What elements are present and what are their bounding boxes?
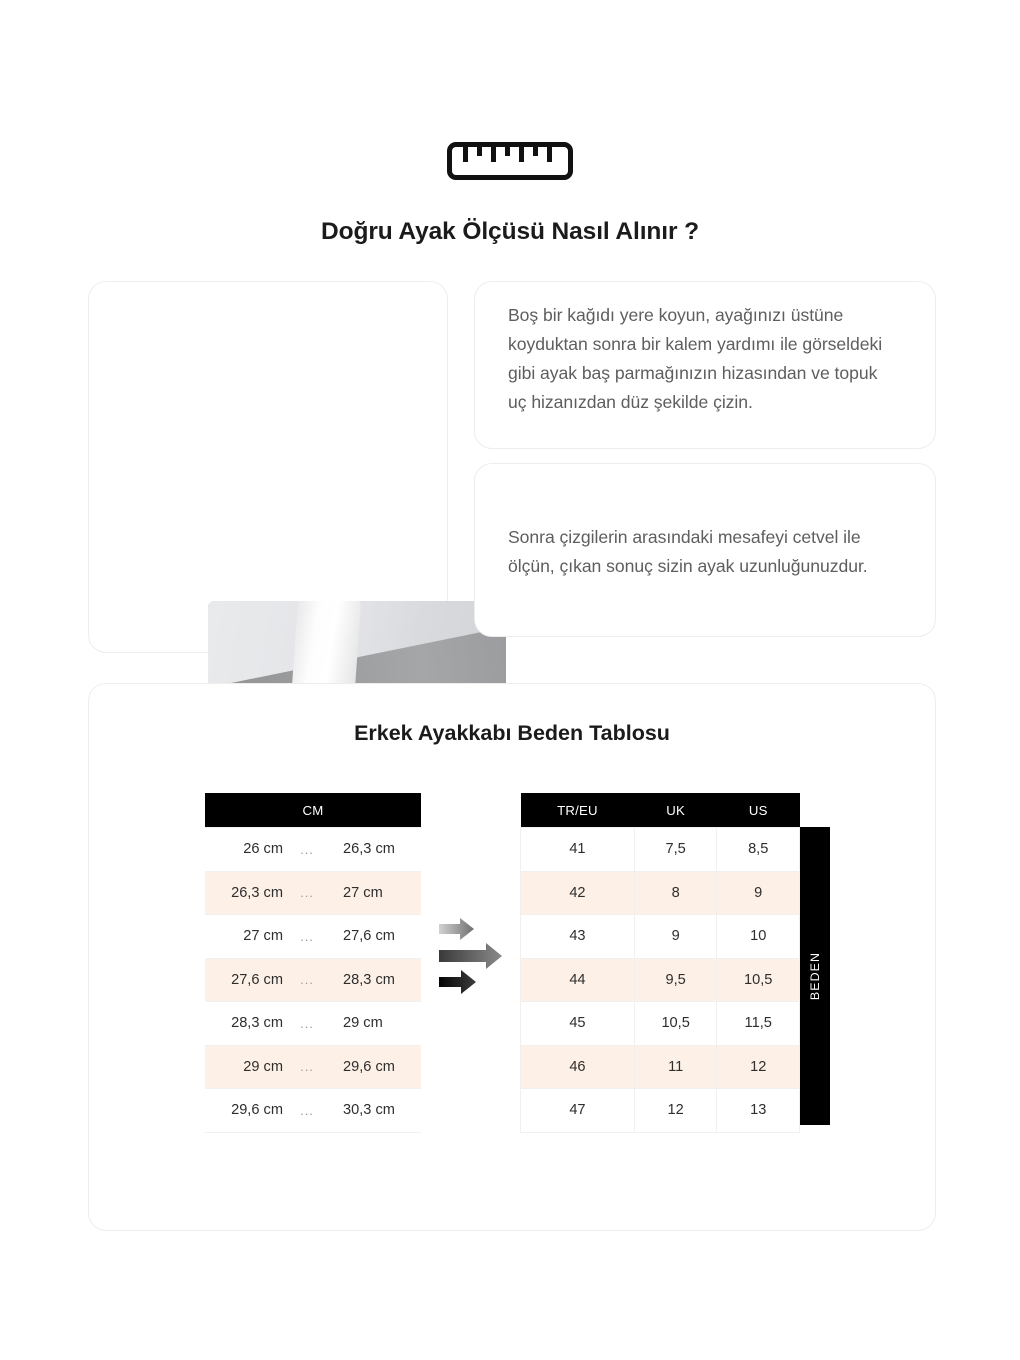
- treu-cell: 41: [521, 828, 635, 872]
- cm-table-row: 29 cm...29,6 cm: [205, 1045, 421, 1089]
- cm-range-separator: ...: [287, 1045, 327, 1089]
- cm-column-header: CM: [205, 793, 421, 828]
- cm-table-row: 26,3 cm...27 cm: [205, 871, 421, 915]
- ruler-tick: [463, 147, 468, 162]
- uk-cell: 8: [634, 871, 717, 915]
- treu-cell: 42: [521, 871, 635, 915]
- sizes-table-row: 449,510,5: [521, 958, 800, 1002]
- treu-cell: 43: [521, 915, 635, 959]
- treu-cell: 45: [521, 1002, 635, 1046]
- sizes-table-row: 43910: [521, 915, 800, 959]
- cm-to-cell: 27,6 cm: [327, 915, 421, 959]
- cm-to-cell: 28,3 cm: [327, 958, 421, 1002]
- treu-column-header: TR/EU: [521, 793, 635, 828]
- cm-table-row: 27,6 cm...28,3 cm: [205, 958, 421, 1002]
- cm-range-separator: ...: [287, 1089, 327, 1133]
- sizes-table: TR/EU UK US 417,58,5428943910449,510,545…: [520, 793, 800, 1133]
- uk-cell: 11: [634, 1045, 717, 1089]
- cm-range-separator: ...: [287, 1002, 327, 1046]
- arrow-top: [439, 918, 474, 940]
- beden-side-label: BEDEN: [800, 827, 830, 1125]
- uk-cell: 10,5: [634, 1002, 717, 1046]
- cm-table-row: 28,3 cm...29 cm: [205, 1002, 421, 1046]
- uk-column-header: UK: [634, 793, 717, 828]
- cm-range-separator: ...: [287, 915, 327, 959]
- sizes-table-body: 417,58,5428943910449,510,54510,511,54611…: [521, 828, 800, 1133]
- cm-to-cell: 29,6 cm: [327, 1045, 421, 1089]
- ruler-tick: [547, 147, 552, 162]
- ruler-tick: [519, 147, 524, 162]
- us-cell: 13: [717, 1089, 800, 1133]
- arrow-bottom: [439, 970, 476, 994]
- treu-cell: 47: [521, 1089, 635, 1133]
- cm-from-cell: 27,6 cm: [205, 958, 287, 1002]
- uk-cell: 9: [634, 915, 717, 959]
- cm-table: CM 26 cm...26,3 cm26,3 cm...27 cm27 cm..…: [205, 793, 421, 1133]
- instruction-text-1: Boş bir kağıdı yere koyun, ayağınızı üst…: [508, 301, 900, 417]
- treu-cell: 44: [521, 958, 635, 1002]
- cm-to-cell: 27 cm: [327, 871, 421, 915]
- cm-from-cell: 29,6 cm: [205, 1089, 287, 1133]
- us-cell: 10,5: [717, 958, 800, 1002]
- us-cell: 9: [717, 871, 800, 915]
- ruler-tick: [491, 147, 496, 162]
- uk-cell: 9,5: [634, 958, 717, 1002]
- sizes-table-row: 4289: [521, 871, 800, 915]
- uk-cell: 12: [634, 1089, 717, 1133]
- cm-from-cell: 29 cm: [205, 1045, 287, 1089]
- ruler-tick: [477, 147, 482, 156]
- cm-table-row: 26 cm...26,3 cm: [205, 828, 421, 872]
- ruler-tick: [533, 147, 538, 156]
- cm-table-row: 29,6 cm...30,3 cm: [205, 1089, 421, 1133]
- cm-to-cell: 30,3 cm: [327, 1089, 421, 1133]
- cm-to-cell: 29 cm: [327, 1002, 421, 1046]
- cm-table-row: 27 cm...27,6 cm: [205, 915, 421, 959]
- photo-card: [88, 281, 448, 653]
- sizes-table-row: 461112: [521, 1045, 800, 1089]
- sizes-table-header-row: TR/EU UK US: [521, 793, 800, 828]
- us-cell: 11,5: [717, 1002, 800, 1046]
- sizes-table-row: 4510,511,5: [521, 1002, 800, 1046]
- us-cell: 8,5: [717, 828, 800, 872]
- cm-table-header-row: CM: [205, 793, 421, 828]
- three-right-arrows-icon: [437, 916, 515, 996]
- cm-table-body: 26 cm...26,3 cm26,3 cm...27 cm27 cm...27…: [205, 828, 421, 1133]
- cm-from-cell: 27 cm: [205, 915, 287, 959]
- uk-cell: 7,5: [634, 828, 717, 872]
- page-title: Doğru Ayak Ölçüsü Nasıl Alınır ?: [0, 218, 1020, 246]
- cm-range-separator: ...: [287, 828, 327, 872]
- size-table-title: Erkek Ayakkabı Beden Tablosu: [88, 721, 936, 746]
- treu-cell: 46: [521, 1045, 635, 1089]
- sizes-table-row: 471213: [521, 1089, 800, 1133]
- cm-from-cell: 26 cm: [205, 828, 287, 872]
- ruler-icon: [447, 142, 573, 180]
- instruction-text-2: Sonra çizgilerin arasındaki mesafeyi cet…: [508, 523, 878, 581]
- cm-range-separator: ...: [287, 958, 327, 1002]
- arrow-middle: [439, 943, 502, 969]
- sizes-table-row: 417,58,5: [521, 828, 800, 872]
- cm-range-separator: ...: [287, 871, 327, 915]
- ruler-icon-wrapper: [0, 142, 1020, 180]
- us-cell: 10: [717, 915, 800, 959]
- cm-from-cell: 26,3 cm: [205, 871, 287, 915]
- us-column-header: US: [717, 793, 800, 828]
- us-cell: 12: [717, 1045, 800, 1089]
- cm-to-cell: 26,3 cm: [327, 828, 421, 872]
- ruler-tick: [505, 147, 510, 156]
- cm-from-cell: 28,3 cm: [205, 1002, 287, 1046]
- beden-side-label-text: BEDEN: [808, 952, 822, 1000]
